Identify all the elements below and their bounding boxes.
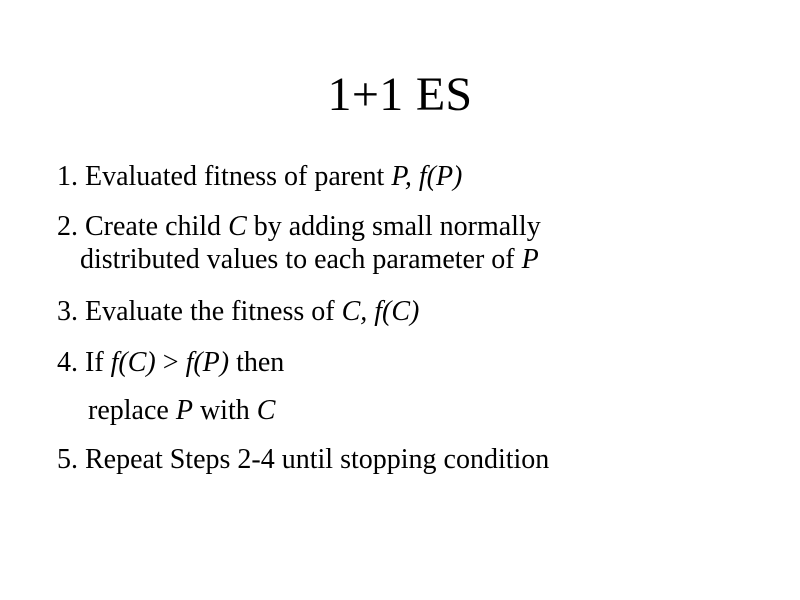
text-run: then xyxy=(229,347,284,378)
italic-variable: f(P) xyxy=(419,161,463,192)
list-item-step-4-continuation: replace P with C xyxy=(57,394,747,427)
text-run: replace xyxy=(88,395,176,426)
list-item-step-4: 4. If f(C) > f(P) then xyxy=(57,346,747,379)
slide: 1+1 ES 1. Evaluated fitness of parent P,… xyxy=(0,0,800,600)
list-item-step-5: 5. Repeat Steps 2-4 until stopping condi… xyxy=(57,443,747,476)
text-run: 1. Evaluated fitness of parent xyxy=(57,161,391,192)
text-run: 5. Repeat Steps 2-4 until stopping condi… xyxy=(57,444,549,475)
list-item-step-1: 1. Evaluated fitness of parent P, f(P) xyxy=(57,160,747,193)
italic-variable: P xyxy=(522,244,539,275)
page-title: 1+1 ES xyxy=(0,66,800,124)
italic-variable: P xyxy=(176,395,193,426)
text-run: 3. Evaluate the fitness of xyxy=(57,296,342,327)
italic-variable: f(C) xyxy=(111,347,156,378)
italic-variable: C xyxy=(257,395,276,426)
italic-variable: C xyxy=(228,211,247,242)
text-run xyxy=(412,161,419,192)
text-run: > xyxy=(156,347,186,378)
italic-variable: P, xyxy=(391,161,412,192)
list-item-step-2: 2. Create child C by adding small normal… xyxy=(57,210,660,276)
text-run: 4. If xyxy=(57,347,111,378)
list-item-step-3: 3. Evaluate the fitness of C, f(C) xyxy=(57,295,747,328)
italic-variable: f(P) xyxy=(186,347,230,378)
steps-list: 1. Evaluated fitness of parent P, f(P) 2… xyxy=(57,160,747,476)
text-run: with xyxy=(193,395,257,426)
text-run: 2. Create child xyxy=(57,211,228,242)
italic-variable: C, xyxy=(342,296,368,327)
italic-variable: f(C) xyxy=(374,296,419,327)
